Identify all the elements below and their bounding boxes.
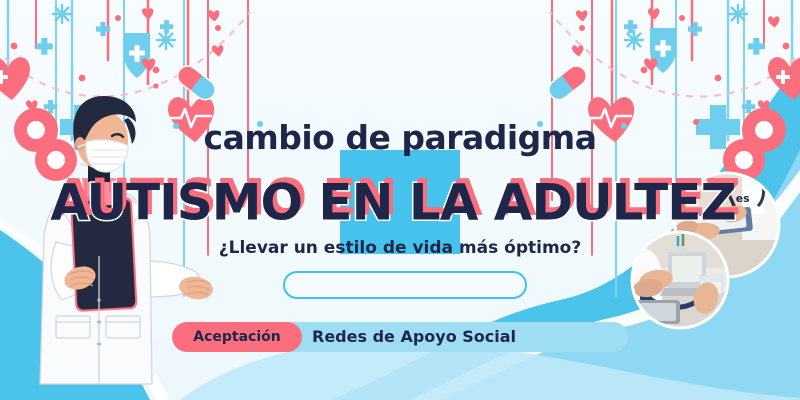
status-badge[interactable]: Aceptación [172,322,302,352]
banner-title-wrap: AUTISMO EN LA ADULTEZes [0,170,800,232]
page-title: AUTISMO EN LA ADULTEZes [50,170,749,232]
banner-kicker: cambio de paradigma [0,118,800,157]
topic-bar-label: Redes de Apoyo Social [312,322,516,352]
banner-subtitle: ¿Llevar un estilo de vida más óptimo? [0,238,800,258]
autism-awareness-banner: cambio de paradigma AUTISMO EN LA ADULTE… [0,0,800,400]
search-input[interactable] [283,271,527,299]
page-title-superscript: es [736,192,750,205]
tag-row: Redes de Apoyo Social Aceptación [172,322,628,352]
page-title-text: AUTISMO EN LA ADULTEZ [50,174,735,232]
